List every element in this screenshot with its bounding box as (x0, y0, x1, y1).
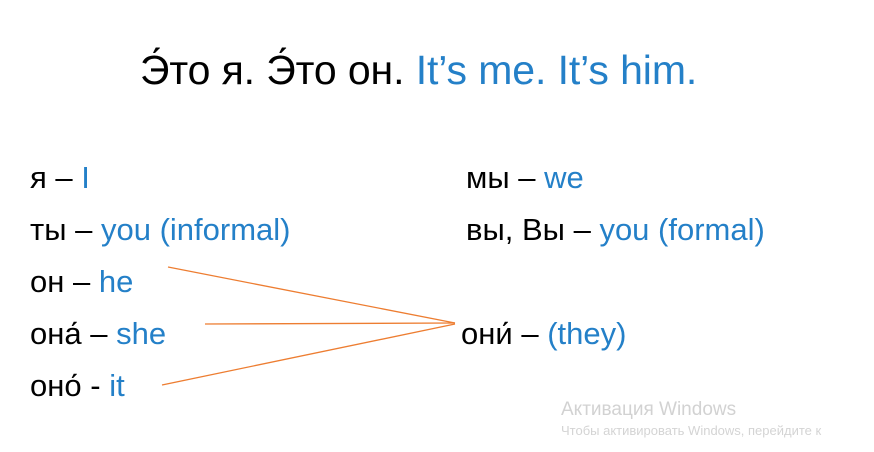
pronoun-english: (they) (547, 316, 626, 351)
pronoun-separator: - (90, 368, 100, 403)
watermark-title: Активация Windows (561, 398, 821, 422)
pronoun-english: it (109, 368, 125, 403)
slide-canvas: Э́то я. Э́то он. It’s me. It’s him. я – … (0, 0, 874, 452)
pronoun-separator: – (73, 264, 90, 299)
pronoun-english: he (99, 264, 133, 299)
pronoun-english: she (116, 316, 166, 351)
slide-title: Э́то я. Э́то он. It’s me. It’s him. (140, 45, 697, 95)
pronoun-separator: – (518, 160, 535, 195)
list-item: ты – you (informal) (30, 204, 290, 256)
pronoun-russian: я (30, 160, 47, 195)
list-item: мы – we (466, 152, 765, 204)
pronoun-english: we (544, 160, 584, 195)
pronoun-russian: мы (466, 160, 510, 195)
pronoun-russian: вы, Вы (466, 212, 565, 247)
title-english: It’s me. It’s him. (416, 47, 697, 93)
list-item: она́ – she (30, 308, 290, 360)
list-item: вы, Вы – you (formal) (466, 204, 765, 256)
pronoun-separator: – (55, 160, 72, 195)
list-item: я – I (30, 152, 290, 204)
list-item: он – he (30, 256, 290, 308)
pronoun-they-row: они́ – (they) (461, 308, 626, 360)
pronoun-russian: ты (30, 212, 66, 247)
watermark-subtitle: Чтобы активировать Windows, перейдите к (561, 422, 821, 440)
pronoun-english: you (formal) (599, 212, 764, 247)
pronoun-russian: она́ (30, 316, 82, 351)
pronoun-separator: – (521, 316, 538, 351)
pronoun-list-left: я – I ты – you (informal) он – he она́ –… (30, 152, 290, 412)
pronoun-separator: – (574, 212, 591, 247)
pronoun-english: you (informal) (101, 212, 291, 247)
pronoun-russian: он (30, 264, 64, 299)
title-russian: Э́то я. Э́то он. (140, 47, 404, 93)
list-item: оно́ - it (30, 360, 290, 412)
pronoun-separator: – (75, 212, 92, 247)
pronoun-english: I (81, 160, 90, 195)
pronoun-russian: оно́ (30, 368, 82, 403)
windows-activation-watermark: Активация Windows Чтобы активировать Win… (561, 398, 821, 440)
pronoun-russian: они́ (461, 316, 513, 351)
pronoun-separator: – (90, 316, 107, 351)
pronoun-list-right: мы – we вы, Вы – you (formal) (466, 152, 765, 256)
